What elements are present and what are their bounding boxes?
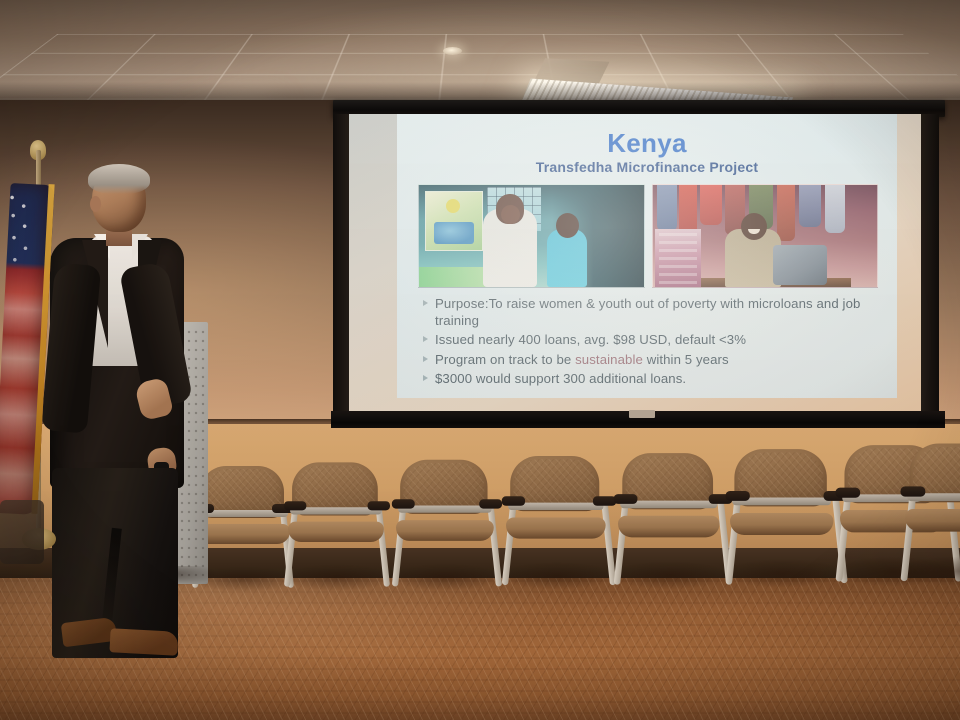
chair (730, 450, 844, 602)
chair-seat (506, 518, 606, 539)
conference-room-scene: Kenya Transfedha Microfinance Project (0, 0, 960, 720)
chair-armrest-cap (502, 497, 525, 507)
folded-fabric-stack (655, 229, 701, 287)
chair-shadow (282, 565, 392, 592)
hanging-garment (825, 185, 845, 233)
shop-poster (425, 191, 483, 251)
chair-seat (396, 520, 494, 541)
bullet-text: Program on track to be sustainable withi… (435, 352, 729, 369)
triangle-bullet-icon (423, 336, 428, 342)
chair-shadow (723, 560, 842, 589)
shop-person-seated (547, 229, 587, 287)
chair-armrest-cap (900, 486, 925, 496)
photo-shop-interior (418, 184, 645, 288)
bullet-text: $3000 would support 300 additional loans… (435, 371, 686, 388)
screen-border-left (333, 114, 349, 414)
chair-shadow (390, 564, 502, 591)
presenter-ear (90, 196, 101, 212)
triangle-bullet-icon (423, 356, 428, 362)
hanging-garment (799, 185, 821, 227)
chair-armrest-cap (284, 502, 306, 511)
chair-seat (730, 513, 833, 535)
list-item: $3000 would support 300 additional loans… (423, 371, 883, 388)
chair-armrest-cap (367, 502, 389, 511)
chair-seat (196, 524, 290, 544)
list-item: Program on track to be sustainable withi… (423, 352, 883, 369)
shop-person-standing (483, 209, 537, 287)
triangle-bullet-icon (423, 375, 428, 381)
shop-floor (419, 267, 491, 287)
chair (905, 443, 960, 604)
hanging-garment (700, 185, 722, 225)
slide-photo-row (418, 184, 878, 288)
presenter-hair (88, 164, 150, 194)
hanging-garment (777, 185, 795, 241)
bullet-highlight-word: sustainable (575, 352, 643, 367)
chair (506, 456, 612, 598)
projected-slide: Kenya Transfedha Microfinance Project (397, 114, 897, 398)
triangle-bullet-icon (423, 300, 428, 306)
bullet-text: Purpose:To raise women & youth out of po… (435, 296, 883, 329)
chair (288, 463, 386, 594)
slide-bullet-list: Purpose:To raise women & youth out of po… (423, 296, 883, 391)
chair-armrest-cap (392, 499, 415, 508)
screen-border-right (921, 114, 939, 414)
chair-shadow (612, 561, 729, 589)
projection-screen: Kenya Transfedha Microfinance Project (333, 100, 945, 424)
chair-armrest-cap (836, 488, 861, 498)
list-item: Purpose:To raise women & youth out of po… (423, 296, 883, 329)
chair (396, 460, 498, 596)
chair-armrest-cap (593, 497, 616, 507)
chair (618, 453, 728, 600)
chair-seat (288, 522, 384, 542)
slide-subtitle: Transfedha Microfinance Project (397, 159, 897, 175)
stall-bag (773, 245, 827, 285)
hanging-garment (657, 185, 677, 231)
flag-star-field (2, 189, 41, 287)
chair-armrest-cap (726, 491, 750, 501)
chair-seat (905, 509, 960, 532)
presenter-shoe-front (109, 628, 178, 656)
wall-side-object (0, 500, 44, 564)
chair-seat (618, 516, 720, 538)
chair-armrest-cap (614, 494, 638, 504)
bullet-text: Issued nearly 400 loans, avg. $98 USD, d… (435, 332, 746, 349)
list-item: Issued nearly 400 loans, avg. $98 USD, d… (423, 332, 883, 349)
screen-pull-tab (629, 410, 655, 418)
photo-market-stall (652, 184, 879, 288)
ceiling (0, 0, 960, 112)
chair-armrest-cap (479, 499, 502, 508)
slide-title: Kenya (397, 128, 897, 159)
chair-shadow (500, 562, 614, 590)
recessed-downlight (443, 47, 462, 55)
